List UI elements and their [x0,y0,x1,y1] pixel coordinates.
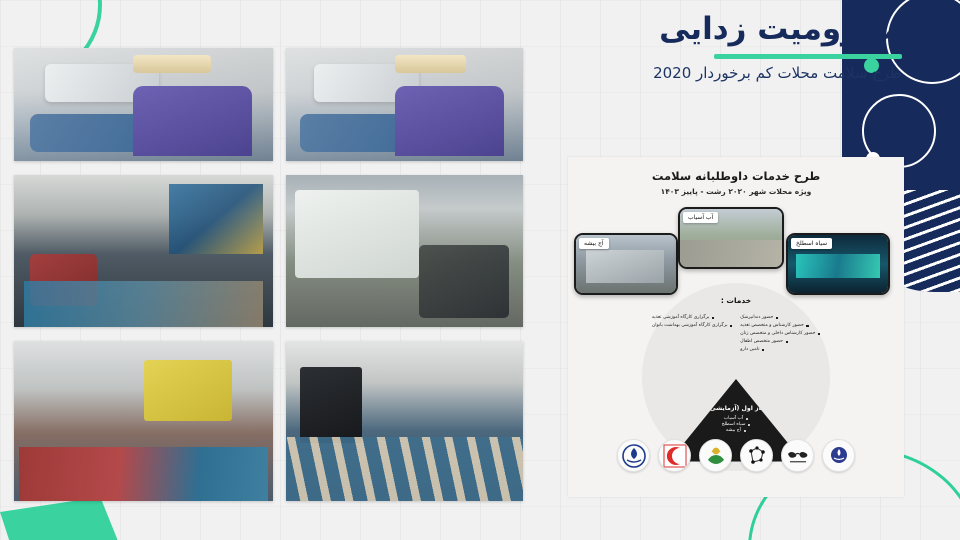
photo-dental-clinic-2 [286,48,523,161]
location-label: آج بیشه [579,238,609,249]
presentation-slide: محرومیت زدایی طرح سلامت محلات کم برخوردا… [0,0,960,540]
infographic-panel: طرح خدمات داوطلبانه سلامت ویژه محلات شهر… [568,157,904,497]
location-label: سیاه اسطلخ [791,238,832,249]
phase-item: آج بیشه [726,428,746,433]
network-nodes-logo-icon [740,439,773,472]
dental-chair-shape [30,114,165,152]
phase-label: آب آسیاب [724,416,743,421]
location-card-aj-bisheh: آج بیشه [574,233,678,295]
red-chair-shape [30,254,97,306]
phase-label: آج بیشه [726,428,741,433]
slide-header: محرومیت زدایی طرح سلامت محلات کم برخوردا… [653,12,902,83]
dental-chair-shape [300,114,423,152]
eyeglasses-logo-icon [781,439,814,472]
phase-item: آب آسیاب [724,416,748,421]
bullet-icon [748,424,750,426]
partner-logos-row [568,439,904,472]
phase-label: سیاه اسطلخ [722,422,746,427]
page-title: محرومیت زدایی [653,12,902,48]
photo-children-carpet-room [286,341,523,501]
title-underline-rule [714,54,902,59]
dental-lamp-shape [395,55,466,73]
dental-lamp-shape [133,55,211,73]
photo-mobile-clinic-truck [286,175,523,327]
photo-mosque-hall-session [14,341,273,501]
phase-item: سیاه اسطلخ [722,422,751,427]
charity-hands-logo-icon [699,439,732,472]
red-crescent-logo-icon [658,439,691,472]
photo-grid [14,48,524,503]
green-polygon-bottom-left-decoration [0,497,118,540]
photo-community-hall-screening [14,175,273,327]
location-card-siah-estalkh: سیاه اسطلخ [786,233,890,295]
university-emblem-logo-icon [822,439,855,472]
location-label: آب آسیاب [683,212,718,223]
hatch-lines-decoration [898,190,960,292]
page-subtitle: طرح سلامت محلات کم برخوردار 2020 [653,64,902,84]
bullet-icon [746,418,748,420]
bullet-icon [744,430,746,432]
ministry-of-health-logo-icon [617,439,650,472]
location-card-ab-asiab: آب آسیاب [678,207,784,269]
photo-dental-clinic-1 [14,48,273,161]
